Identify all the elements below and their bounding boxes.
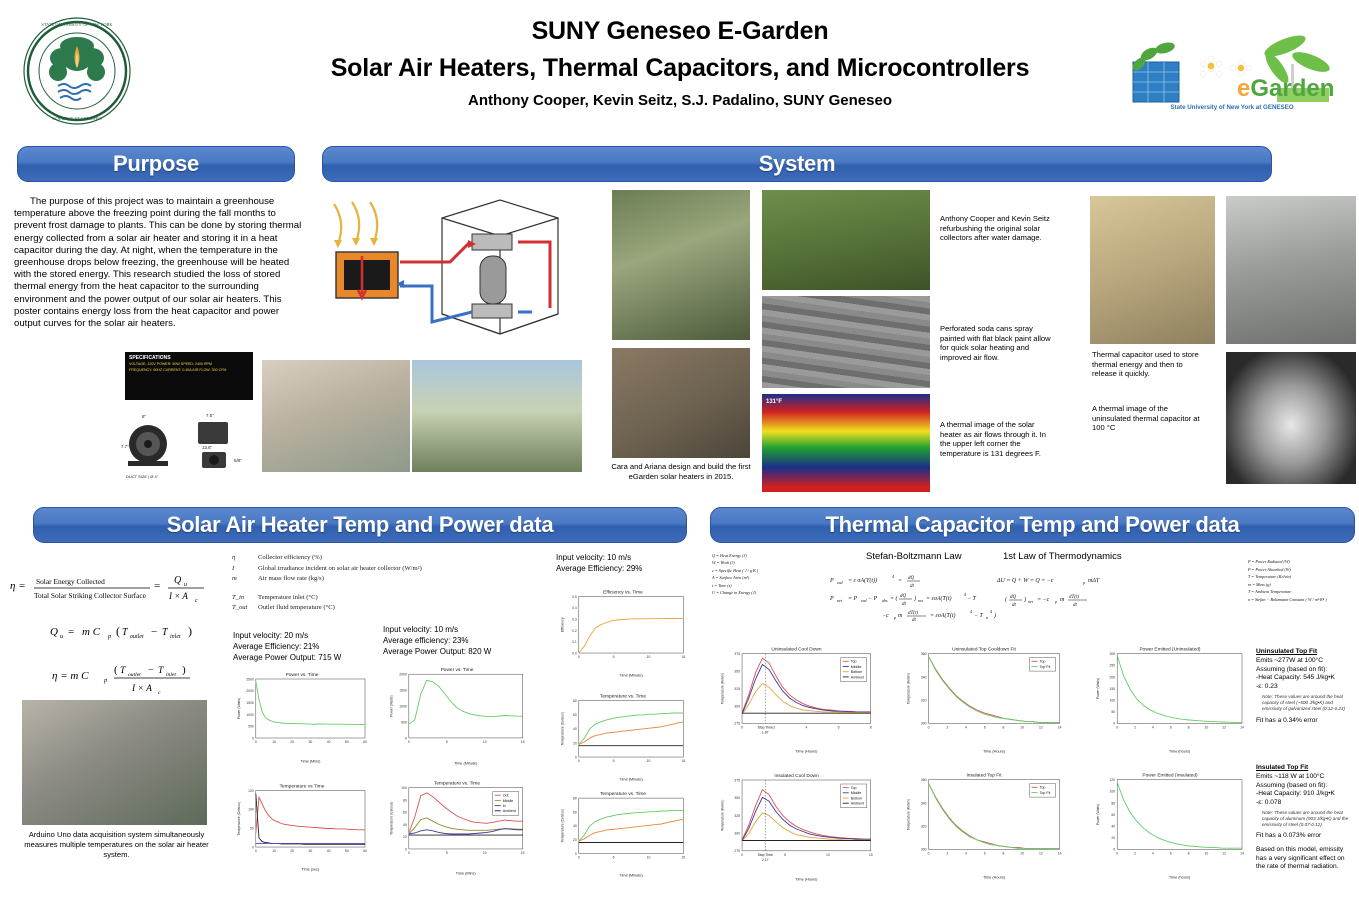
svg-text:T: T <box>158 666 164 676</box>
results-uninsulated-heat-capacity: -Heat Capacity: 545 J/kg•K <box>1256 674 1354 683</box>
svg-text:1500: 1500 <box>246 701 254 705</box>
svg-text:120: 120 <box>248 789 254 793</box>
svg-text:10: 10 <box>483 851 487 855</box>
svg-text:10: 10 <box>1204 725 1208 729</box>
svg-text:Time (Hours): Time (Hours) <box>795 878 818 882</box>
variable-row: ηCollector efficiency (%) <box>232 553 482 564</box>
poster-authors: Anthony Cooper, Kevin Seitz, S.J. Padali… <box>300 88 1060 114</box>
svg-text:8: 8 <box>1188 725 1190 729</box>
greenhouse-exterior-solar-panels-photo <box>412 360 582 472</box>
variable-line: P = Power Radiated (W) <box>1248 558 1356 566</box>
svg-text:c: c <box>158 690 161 696</box>
svg-text:0.0: 0.0 <box>572 651 577 655</box>
caption-arduino: Arduino Uno data acquisition system simu… <box>14 830 219 860</box>
svg-text:60: 60 <box>573 810 577 814</box>
svg-text:0: 0 <box>408 851 410 855</box>
variable-line: P = Power Absorbed (W) <box>1248 566 1356 574</box>
solar-variable-definitions: ηCollector efficiency (%) IGlobal irradi… <box>232 553 482 614</box>
fan-specifications-panel: SPECIFICATIONS VOLTAGE: 120V POWER: 50W … <box>125 352 253 400</box>
svg-text:60: 60 <box>363 740 367 744</box>
svg-text:60: 60 <box>403 811 407 815</box>
svg-text:Middle: Middle <box>851 791 862 795</box>
svg-text:0: 0 <box>578 655 580 659</box>
thermal-image-solar-heater <box>762 394 930 492</box>
section-banner-system: System <box>322 146 1272 182</box>
svg-text:8: 8 <box>1002 725 1004 729</box>
svg-text:0: 0 <box>1113 848 1115 852</box>
svg-text:Temperature vs Time: Temperature vs Time <box>280 783 325 789</box>
svg-text:2000: 2000 <box>399 673 407 677</box>
variable-symbol: T_out <box>232 603 258 614</box>
perforated-soda-cans-photo <box>762 296 930 388</box>
svg-text:Time (Minute): Time (Minute) <box>619 674 643 678</box>
svg-text:= −c: = −c <box>1037 597 1050 603</box>
svg-text:dQ: dQ <box>908 576 915 581</box>
variable-definition: Outlet fluid temperature (°C) <box>258 603 335 614</box>
svg-text:Time (Hours): Time (Hours) <box>795 750 818 754</box>
svg-text:60: 60 <box>573 713 577 717</box>
svg-text:dQ: dQ <box>1010 595 1017 600</box>
results-insulated-assume: Assuming (based on fit): <box>1256 782 1354 791</box>
caption-thermal-image-capacitor: A thermal image of the uninsulated therm… <box>1092 404 1208 433</box>
svg-text:13.6": 13.6" <box>202 445 213 450</box>
svg-text:0: 0 <box>408 740 410 744</box>
svg-text:4: 4 <box>805 725 807 729</box>
svg-text:14: 14 <box>1058 725 1062 729</box>
svg-text:6: 6 <box>838 725 840 729</box>
title-block: SUNY Geneseo E-Garden Solar Air Heaters,… <box>300 14 1060 114</box>
variable-line: t = Time (s) <box>712 582 804 589</box>
chart-tc-power-uninsulated: Power Emitted (Uninsulated)0501001502002… <box>1090 636 1250 754</box>
purpose-body-text: The purpose of this project was to maint… <box>14 196 304 330</box>
svg-text:Temperature (Kelvin): Temperature (Kelvin) <box>721 673 725 704</box>
caption-thermal-capacitor: Thermal capacitor used to store thermal … <box>1092 350 1208 379</box>
svg-text:1.87: 1.87 <box>762 730 769 734</box>
svg-text:7.5": 7.5" <box>206 413 214 418</box>
svg-text:T: T <box>120 666 126 676</box>
svg-text:80: 80 <box>573 699 577 703</box>
svg-text:1000: 1000 <box>399 704 407 708</box>
suny-geneseo-seal-logo: STATE UNIVERSITY OF NEW YORK COLLEGE AT … <box>22 16 132 126</box>
svg-text:10: 10 <box>272 849 276 853</box>
svg-text:): ) <box>188 624 192 638</box>
svg-text:0.3: 0.3 <box>572 617 577 621</box>
svg-text:Solar Energy Collected: Solar Energy Collected <box>36 577 105 586</box>
svg-text:T: T <box>162 627 169 638</box>
svg-text:10: 10 <box>647 856 651 860</box>
cara-ariana-building-photo <box>612 348 750 458</box>
svg-text:0: 0 <box>578 759 580 763</box>
svg-text:− T: − T <box>974 613 984 619</box>
results-insulated-title: Insulated Top Fit <box>1256 764 1308 771</box>
svg-text:15: 15 <box>681 759 685 763</box>
input-velocity-3: Input velocity: 10 m/s <box>556 552 706 563</box>
svg-text:5: 5 <box>446 740 448 744</box>
svg-text:20: 20 <box>403 835 407 839</box>
svg-text:η =: η = <box>10 580 26 592</box>
svg-text:T: T <box>122 627 129 638</box>
svg-text:Time (Hours): Time (Hours) <box>983 750 1006 754</box>
svg-text:outlet: outlet <box>130 634 144 640</box>
svg-text:ΔU = Q + W = Q = −c: ΔU = Q + W = Q = −c <box>996 578 1054 584</box>
svg-text:2: 2 <box>946 851 948 855</box>
svg-text:7.7": 7.7" <box>121 444 129 449</box>
svg-text:): ) <box>1023 596 1026 603</box>
svg-text:Temperature vs. Time: Temperature vs. Time <box>600 693 646 699</box>
results-uninsulated-title: Uninsulated Top Fit <box>1256 648 1317 655</box>
thermal-variables-left: Q = Heat Energy (J) W = Work (J) c = Spe… <box>712 552 804 596</box>
svg-text:5: 5 <box>446 851 448 855</box>
svg-text:mΔT: mΔT <box>1088 578 1100 584</box>
svg-text:Power Emitted (Uninsulated): Power Emitted (Uninsulated) <box>1139 647 1200 653</box>
svg-text:p: p <box>1082 580 1085 585</box>
svg-text:10: 10 <box>483 740 487 744</box>
avg-efficiency-1: Average Efficiency: 21% <box>233 641 383 652</box>
svg-text:6: 6 <box>984 851 986 855</box>
section-banner-thermal: Thermal Capacitor Temp and Power data <box>710 507 1355 543</box>
egarden-logo: eGarden State University of New York at … <box>1125 28 1340 120</box>
svg-text:In: In <box>503 804 506 808</box>
variable-line: T = Ambient Temperature <box>1248 588 1356 596</box>
chart-tc-insulated-fit: Insulated Top Fit30032034036002468101214… <box>900 762 1068 880</box>
svg-text:10: 10 <box>647 759 651 763</box>
results-insulated-note: Note: These values are around the heat c… <box>1262 810 1354 828</box>
svg-text:Time (Mins): Time (Mins) <box>456 872 477 876</box>
svg-text:Uninsulated Cool Down: Uninsulated Cool Down <box>771 647 821 653</box>
svg-text:Top Fit: Top Fit <box>1040 665 1051 669</box>
svg-text:10: 10 <box>826 853 830 857</box>
svg-text:300: 300 <box>1110 652 1116 656</box>
svg-text:40: 40 <box>573 824 577 828</box>
svg-text:STATE UNIVERSITY OF NEW YORK: STATE UNIVERSITY OF NEW YORK <box>41 22 113 27</box>
svg-text:m: m <box>898 613 903 619</box>
svg-text:rad: rad <box>861 598 868 603</box>
svg-text:0: 0 <box>928 851 930 855</box>
svg-text:Power (Watts): Power (Watts) <box>237 698 241 719</box>
svg-text:15: 15 <box>521 851 525 855</box>
avg-power-2: Average Power Output: 820 W <box>383 646 543 657</box>
results-insulated-heat-capacity: -Heat Capacity: 910 J/kg•K <box>1256 790 1354 799</box>
stefan-boltzmann-header: Stefan-Boltzmann Law <box>866 551 962 562</box>
svg-text:40: 40 <box>327 849 331 853</box>
thermal-heater-temp-overlay: 131°F <box>766 398 782 408</box>
svg-text:Efficiency vs. Time: Efficiency vs. Time <box>603 589 643 595</box>
svg-text:2: 2 <box>1134 725 1136 729</box>
section-banner-solar: Solar Air Heater Temp and Power data <box>33 507 687 543</box>
svg-text:abs: abs <box>882 598 888 603</box>
svg-text:η = m C: η = m C <box>52 670 89 682</box>
svg-text:rad: rad <box>837 580 844 585</box>
svg-text:10: 10 <box>647 655 651 659</box>
section-banner-purpose: Purpose <box>17 146 295 182</box>
variable-definition: Temperature inlet (°C) <box>258 593 318 604</box>
svg-text:14: 14 <box>1240 851 1244 855</box>
input-velocity-2: Input velocity: 10 m/s <box>383 624 543 635</box>
svg-text:0.1: 0.1 <box>572 640 577 644</box>
svg-text:Time (Mins): Time (Mins) <box>300 760 321 764</box>
svg-text:5/8": 5/8" <box>234 458 242 463</box>
svg-text:Time (Minute): Time (Minute) <box>454 762 478 766</box>
svg-text:50: 50 <box>345 740 349 744</box>
svg-text:1500: 1500 <box>399 689 407 693</box>
svg-text:Top: Top <box>851 786 857 790</box>
svg-text:I × A: I × A <box>168 591 188 601</box>
svg-text:4: 4 <box>970 609 972 614</box>
svg-text:(: ( <box>116 624 120 638</box>
svg-text:− P: − P <box>868 596 878 602</box>
arduino-data-acquisition-photo <box>22 700 207 825</box>
svg-text:15: 15 <box>681 655 685 659</box>
svg-text:Bottom: Bottom <box>851 796 862 800</box>
svg-text:375: 375 <box>734 652 740 656</box>
svg-text:Temperature (Celsius): Temperature (Celsius) <box>389 802 393 835</box>
svg-text:Top: Top <box>1040 660 1046 664</box>
svg-text:Middle: Middle <box>503 799 514 803</box>
results-uninsulated-error: Fit has a 0.34% error <box>1256 717 1354 726</box>
svg-text:0: 0 <box>928 725 930 729</box>
svg-text:10: 10 <box>272 740 276 744</box>
chart-sah-temp-20: Temperature vs Time050100120010203040506… <box>232 776 372 872</box>
svg-text:10: 10 <box>1020 725 1024 729</box>
svg-text:Time (Minute): Time (Minute) <box>619 778 643 782</box>
svg-text:Temperature (Celsius): Temperature (Celsius) <box>561 809 565 842</box>
svg-text:100: 100 <box>1110 790 1116 794</box>
svg-text:300: 300 <box>734 832 740 836</box>
svg-text:−: − <box>148 665 154 676</box>
svg-text:= εσA(T(t): = εσA(T(t) <box>926 595 952 602</box>
svg-text:0: 0 <box>405 847 407 851</box>
svg-text:Time (sec): Time (sec) <box>302 868 321 872</box>
poster-title-line-2: Solar Air Heaters, Thermal Capacitors, a… <box>300 48 1060 88</box>
svg-text:= εσA(T(t): = εσA(T(t) <box>930 612 956 619</box>
svg-text:300: 300 <box>921 722 927 726</box>
svg-text:120: 120 <box>1110 778 1116 782</box>
insulated-thermal-capacitor-photo <box>1090 196 1215 344</box>
svg-text:15: 15 <box>681 856 685 860</box>
chart-tc-power-insulated: Power Emitted (Insulated)020406080100120… <box>1090 762 1250 880</box>
variable-line: σ = Stefan − Boltzmann Constant ( W / m²… <box>1248 596 1356 604</box>
svg-text:Temperature (Kelvin): Temperature (Kelvin) <box>907 799 911 830</box>
svg-text:2000: 2000 <box>246 689 254 693</box>
svg-text:30: 30 <box>309 740 313 744</box>
svg-text:40: 40 <box>573 727 577 731</box>
variable-row: mAir mass flow rate (kg/s) <box>232 574 482 585</box>
svg-text:4: 4 <box>1152 851 1154 855</box>
svg-text:4: 4 <box>892 574 894 579</box>
svg-text:2.17: 2.17 <box>762 858 769 862</box>
first-law-header: 1st Law of Thermodynamics <box>1003 551 1122 562</box>
results-insulated-epsilon: -ε: 0.078 <box>1256 799 1354 808</box>
chart-sah-temp-eff-10: Temperature vs. Time020406080051015Time … <box>556 686 690 782</box>
avg-efficiency-3: Average Efficiency: 29% <box>556 563 706 574</box>
svg-text:100: 100 <box>401 786 407 790</box>
svg-text:Power (Watts): Power (Watts) <box>1096 804 1100 825</box>
variable-line: U = Change in Energy (J) <box>712 589 804 596</box>
poster-title-line-1: SUNY Geneseo E-Garden <box>300 14 1060 48</box>
svg-text:Temperature (Kelvin): Temperature (Kelvin) <box>721 800 725 831</box>
svg-text:0.2: 0.2 <box>572 629 577 633</box>
svg-text:375: 375 <box>734 778 740 782</box>
svg-text:Temperature (Celsius): Temperature (Celsius) <box>237 802 241 835</box>
svg-text:(: ( <box>1005 596 1008 603</box>
chart-sah-temp-eff-10b: Temperature vs. Time020406080051015Time … <box>556 784 690 878</box>
variable-row: T_inTemperature inlet (°C) <box>232 593 482 604</box>
svg-text:=: = <box>68 626 74 638</box>
svg-text:20: 20 <box>573 741 577 745</box>
svg-text:P: P <box>829 596 834 602</box>
svg-text:0: 0 <box>741 853 743 857</box>
variable-symbol: T_in <box>232 593 258 604</box>
chart-sah-power-10: Power vs. Time0500100015002000051015Time… <box>384 658 530 766</box>
solar-column-2-stats: Input velocity: 10 m/s Average efficienc… <box>383 624 543 657</box>
svg-text:P: P <box>829 578 834 584</box>
results-uninsulated-emits: Emits ~277W at 100°C <box>1256 657 1354 666</box>
svg-text:0: 0 <box>1113 722 1115 726</box>
spec-title: SPECIFICATIONS <box>125 352 253 361</box>
svg-text:c: c <box>195 598 198 604</box>
svg-text:15: 15 <box>521 740 525 744</box>
svg-text:−: − <box>151 626 157 638</box>
svg-text:150: 150 <box>1110 687 1116 691</box>
greenhouse-system-diagram <box>322 190 592 355</box>
svg-text:COLLEGE AT GENESEO: COLLEGE AT GENESEO <box>52 116 102 121</box>
duct-fan-dimension-diagram: 8" 7.5" 7.7" 13.6" 5/8" DUCT SIZE | Ø 4" <box>120 404 260 482</box>
variable-symbol: η <box>232 553 258 564</box>
svg-text:12: 12 <box>1222 851 1226 855</box>
svg-text:20: 20 <box>290 740 294 744</box>
results-insulated-error: Fit has a 0.073% error <box>1256 832 1354 841</box>
svg-text:Out: Out <box>503 794 509 798</box>
variable-row: IGlobal irradiance incident on solar air… <box>232 564 482 575</box>
combined-equation: −cp m dT(t) dt = εσA(T(t)4 − Ta 4) <box>880 606 1080 622</box>
svg-text:Uninsulated Top Cooldown Fit: Uninsulated Top Cooldown Fit <box>952 647 1016 653</box>
svg-text:p: p <box>107 633 112 640</box>
svg-text:eGarden: eGarden <box>1237 75 1334 102</box>
svg-text:5: 5 <box>613 759 615 763</box>
svg-text:): ) <box>182 664 186 676</box>
svg-text:Time (hours): Time (hours) <box>1169 750 1191 754</box>
svg-text:0: 0 <box>255 740 257 744</box>
efficiency-equations: η = Solar Energy Collected Total Solar S… <box>8 555 223 700</box>
svg-text:350: 350 <box>734 670 740 674</box>
svg-text:0: 0 <box>1116 851 1118 855</box>
variable-line: W = Work (J) <box>712 559 804 566</box>
svg-text:net: net <box>837 598 843 603</box>
svg-text:4: 4 <box>965 851 967 855</box>
svg-text:− T: − T <box>967 596 977 602</box>
svg-text:12: 12 <box>1039 725 1043 729</box>
svg-text:350: 350 <box>734 796 740 800</box>
svg-text:0: 0 <box>1116 725 1118 729</box>
svg-text:340: 340 <box>921 675 927 679</box>
svg-text:50: 50 <box>345 849 349 853</box>
svg-text:275: 275 <box>734 849 740 853</box>
svg-text:275: 275 <box>734 722 740 726</box>
svg-text:30: 30 <box>309 849 313 853</box>
svg-text:4: 4 <box>990 609 992 614</box>
svg-text:0: 0 <box>741 725 743 729</box>
svg-text:inlet: inlet <box>166 672 176 678</box>
svg-text:14: 14 <box>1058 851 1062 855</box>
variable-symbol: m <box>232 574 258 585</box>
svg-text:m C: m C <box>82 626 101 638</box>
svg-text:8: 8 <box>1002 851 1004 855</box>
svg-text:325: 325 <box>734 687 740 691</box>
svg-text:= P: = P <box>848 596 858 602</box>
svg-text:p: p <box>893 615 896 620</box>
variable-line: T = Temperature (Kelvin) <box>1248 573 1356 581</box>
svg-text:net: net <box>1028 599 1034 604</box>
chart-sah-efficiency-10: Efficiency vs. Time0.00.10.20.30.40.5051… <box>556 582 690 678</box>
caption-thermal-heater: A thermal image of the solar heater as a… <box>940 420 1052 458</box>
svg-text:360: 360 <box>921 778 927 782</box>
svg-text:250: 250 <box>1110 664 1116 668</box>
svg-text:0: 0 <box>575 755 577 759</box>
svg-text:6: 6 <box>1170 725 1172 729</box>
svg-text:Time (Minute): Time (Minute) <box>619 874 643 878</box>
svg-text:Top Fit: Top Fit <box>1040 791 1051 795</box>
svg-text:Power (Watts): Power (Watts) <box>389 695 393 716</box>
chart-sah-temp-10: Temperature vs. Time020406080100051015Ti… <box>384 772 530 876</box>
svg-text:Power Emitted (Insulated): Power Emitted (Insulated) <box>1142 773 1198 779</box>
svg-text:Time (hours): Time (hours) <box>1169 876 1191 880</box>
svg-text:Ambient: Ambient <box>851 675 864 679</box>
svg-text:Temperature (Celsius): Temperature (Celsius) <box>561 712 565 745</box>
svg-text:Insulated Top Fit: Insulated Top Fit <box>966 773 1002 779</box>
svg-text:50: 50 <box>250 827 254 831</box>
svg-text:Bottom: Bottom <box>851 670 862 674</box>
chart-sah-power-20: Power vs. Time05001000150020002500010203… <box>232 664 372 764</box>
variable-line: Q = Heat Energy (J) <box>712 552 804 559</box>
svg-text:a: a <box>986 615 988 620</box>
variable-line: c = Specific Heat ( J / g·K ) <box>712 567 804 574</box>
svg-text:0.5: 0.5 <box>572 595 577 599</box>
svg-text:Time (Hours): Time (Hours) <box>983 876 1006 880</box>
svg-text:40: 40 <box>1111 825 1115 829</box>
svg-text:Top: Top <box>1040 786 1046 790</box>
svg-text:100: 100 <box>248 808 254 812</box>
svg-text:p: p <box>103 677 108 684</box>
svg-text:dt: dt <box>910 584 915 589</box>
svg-text:100: 100 <box>1110 699 1116 703</box>
svg-text:Stop Time: Stop Time <box>758 725 773 729</box>
svg-text:−c: −c <box>882 613 889 619</box>
variable-definition: Global irradiance incident on solar air … <box>258 564 422 575</box>
svg-text:0: 0 <box>575 852 577 856</box>
collector-refurbish-photo <box>762 190 930 290</box>
metal-trash-can-capacitor-photo <box>1226 196 1356 344</box>
svg-text:8: 8 <box>870 725 872 729</box>
svg-text:Ambient: Ambient <box>851 802 864 806</box>
solar-column-1-stats: Input velocity: 20 m/s Average Efficienc… <box>233 630 383 663</box>
svg-text:Ambient: Ambient <box>503 809 516 813</box>
svg-text:50: 50 <box>1111 710 1115 714</box>
avg-power-1: Average Power Output: 715 W <box>233 652 383 663</box>
svg-text:500: 500 <box>248 725 254 729</box>
svg-text:60: 60 <box>1111 813 1115 817</box>
svg-text:500: 500 <box>401 720 407 724</box>
chart-tc-uninsulated-cooldown: Uninsulated Cool Down2753003253503750246… <box>714 636 879 754</box>
svg-text:(: ( <box>114 664 118 676</box>
svg-text:Power vs. Time: Power vs. Time <box>286 672 319 678</box>
svg-text:300: 300 <box>921 848 927 852</box>
variable-definition: Collector efficiency (%) <box>258 553 322 564</box>
svg-text:Insulated Cool Down: Insulated Cool Down <box>774 773 819 779</box>
svg-text:15: 15 <box>869 853 873 857</box>
svg-text:6: 6 <box>984 725 986 729</box>
svg-text:5: 5 <box>613 856 615 860</box>
svg-text:outlet: outlet <box>128 672 141 678</box>
